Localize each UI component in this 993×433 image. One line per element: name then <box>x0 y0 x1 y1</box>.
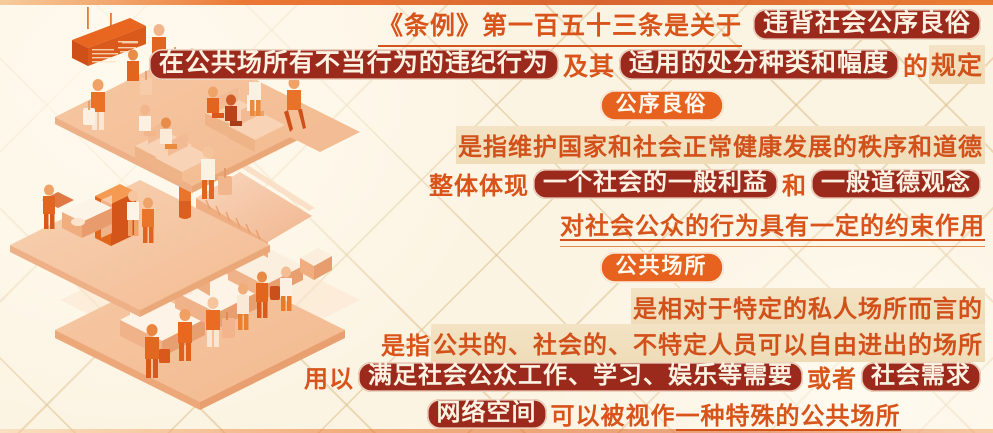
capsule-general-morality: 一般道德观念 <box>811 169 981 199</box>
infographic-poster: 《条例》第一百五十三条是关于 违背社会公序良俗 在公共场所有不当行为的违纪行为 … <box>0 0 993 433</box>
capsule-general-interest: 一个社会的一般利益 <box>533 169 778 199</box>
headline-joiner: 及其 <box>563 47 615 83</box>
section-2-special-public-place: 一种特殊的公共场所 <box>676 396 901 431</box>
section-1-line-2: 整体体现 一个社会的一般利益 和 一般道德观念 <box>429 166 985 201</box>
headline-tail-plain: 的 <box>903 47 929 83</box>
section-2-line-1: 是相对于特定的私人场所而言的 <box>631 288 985 326</box>
section-2-plain-1: 用以 <box>304 359 354 394</box>
section-2-line-4-plain: 可以被视作 <box>551 396 676 431</box>
capsule-public-needs: 满足社会公众工作、学习、娱乐等需要 <box>358 362 803 392</box>
section-1-constraint: 对社会公众的行为具有一定的约束作用 <box>560 206 985 241</box>
section-1-line-3: 对社会公众的行为具有一定的约束作用 <box>560 206 985 241</box>
section-2-line-3: 用以 满足社会公众工作、学习、娱乐等需要 或者 社会需求 <box>304 359 985 394</box>
section-2-plain: 是指 <box>381 326 431 361</box>
headline-tail-highlight: 规定 <box>929 45 985 84</box>
capsule-improper-behaviour: 在公共场所有不当行为的违纪行为 <box>149 49 559 80</box>
capsule-cyberspace: 网络空间 <box>427 399 547 429</box>
section-2-line-4: 网络空间 可以被视作 一种特殊的公共场所 <box>330 396 993 431</box>
section-2-definition: 是相对于特定的私人场所而言的 <box>631 288 985 326</box>
headline-part1: 《条例》第一百五十三条是关于 <box>378 6 742 42</box>
pill-public-place: 公共场所 <box>600 252 724 283</box>
headline-line-2: 在公共场所有不当行为的违纪行为 及其 适用的处分种类和幅度 的 规定 <box>145 45 985 84</box>
section-2-joiner: 或者 <box>807 359 857 394</box>
text-content-column: 《条例》第一百五十三条是关于 违背社会公序良俗 在公共场所有不当行为的违纪行为 … <box>330 0 993 433</box>
capsule-violating-public-order: 违背社会公序良俗 <box>753 9 981 40</box>
capsule-social-demand: 社会需求 <box>861 362 981 392</box>
section-1-plain-1: 整体体现 <box>429 166 529 201</box>
headline-line-1: 《条例》第一百五十三条是关于 违背社会公序良俗 <box>378 6 985 42</box>
capsule-punishment-scope: 适用的处分种类和幅度 <box>619 49 899 80</box>
section-1-line-1: 是指维护国家和社会正常健康发展的秩序和道德 <box>456 126 985 164</box>
section-2-scope: 公共的、社会的、不特定人员可以自由进出的场所 <box>431 324 985 362</box>
section-1-definition: 是指维护国家和社会正常健康发展的秩序和道德 <box>456 126 985 164</box>
section-2-line-2: 是指 公共的、社会的、不特定人员可以自由进出的场所 <box>381 324 985 362</box>
section-1-joiner: 和 <box>782 166 807 201</box>
section-2-heading: 公共场所 <box>330 252 993 283</box>
section-1-heading: 公序良俗 <box>330 90 993 121</box>
pill-public-order-good-customs: 公序良俗 <box>600 90 724 121</box>
